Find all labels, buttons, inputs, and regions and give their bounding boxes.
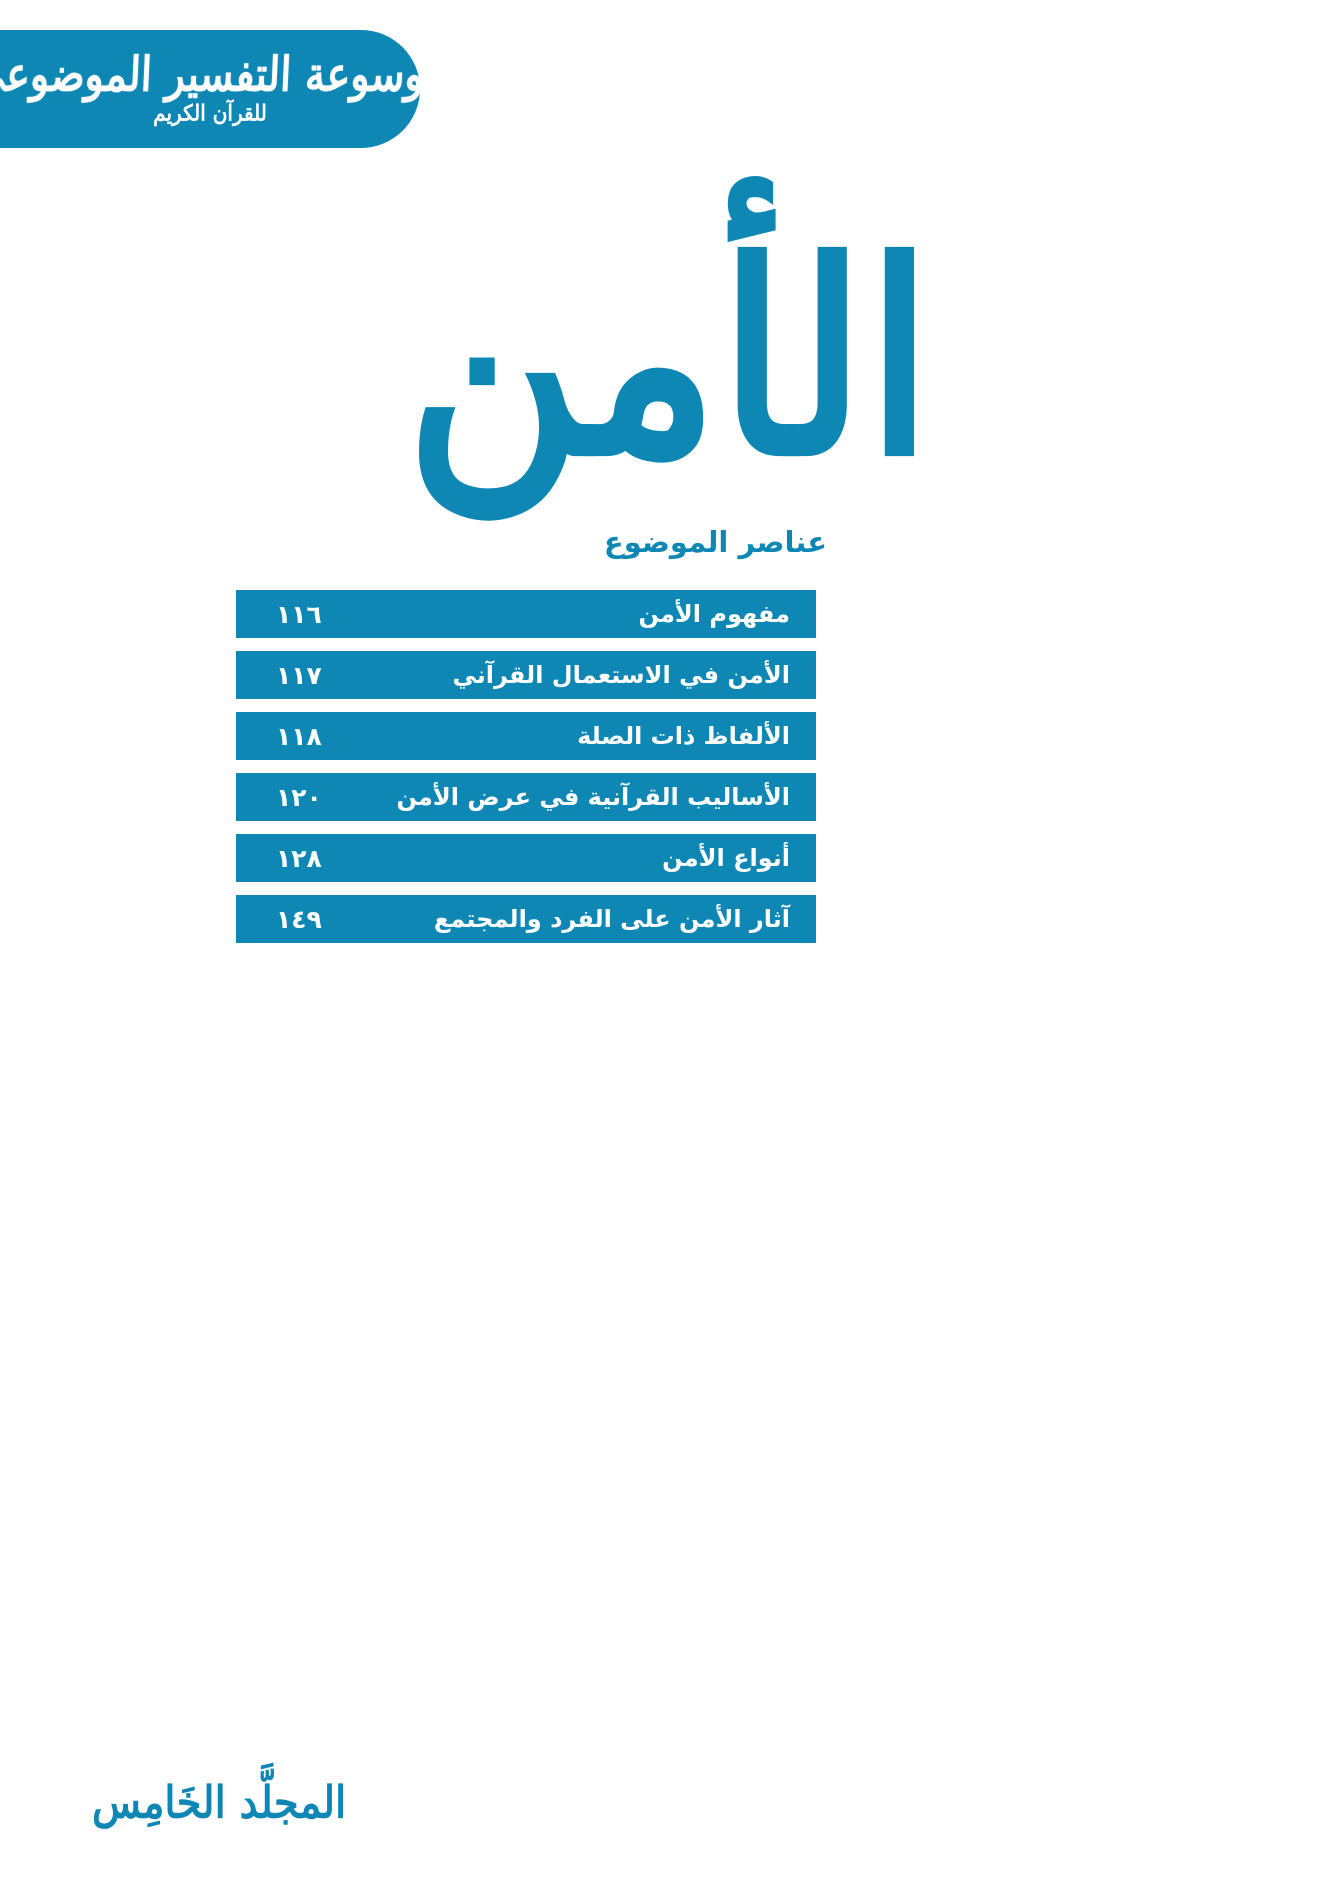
toc-entry-label: الألفاظ ذات الصلة	[577, 722, 790, 750]
toc-entry-page-number: ١٢٨	[276, 844, 322, 873]
table-row[interactable]: آثار الأمن على الفرد والمجتمع١٤٩	[236, 895, 816, 943]
topic-elements-table: مفهوم الأمن١١٦الأمن في الاستعمال القرآني…	[236, 590, 816, 943]
toc-entry-page-number: ١٤٩	[276, 905, 322, 934]
logo-main-title: موسوعة التفسير الموضوعي	[0, 51, 420, 98]
encyclopedia-logo-plaque: موسوعة التفسير الموضوعي للقرآن الكريم	[0, 30, 420, 148]
toc-entry-label: مفهوم الأمن	[638, 600, 790, 628]
page-title: الأمن	[406, 228, 933, 493]
table-row[interactable]: الألفاظ ذات الصلة١١٨	[236, 712, 816, 760]
toc-entry-label: آثار الأمن على الفرد والمجتمع	[434, 905, 790, 933]
topic-title-block: الأمن	[0, 225, 1339, 495]
section-heading-text: عناصر الموضوع	[604, 525, 827, 559]
toc-entry-page-number: ١١٦	[276, 600, 322, 629]
toc-entry-page-number: ١١٧	[276, 661, 322, 690]
volume-label: المجلَّد الخَامِس	[92, 1777, 346, 1829]
toc-entry-label: أنواع الأمن	[662, 844, 790, 872]
toc-entry-page-number: ١١٨	[276, 722, 322, 751]
toc-entry-label: الأمن في الاستعمال القرآني	[452, 661, 790, 689]
logo-subtitle: للقرآن الكريم	[153, 102, 267, 124]
table-row[interactable]: الأمن في الاستعمال القرآني١١٧	[236, 651, 816, 699]
section-heading: عناصر الموضوع	[0, 525, 1339, 559]
table-row[interactable]: الأساليب القرآنية في عرض الأمن١٢٠	[236, 773, 816, 821]
table-row[interactable]: أنواع الأمن١٢٨	[236, 834, 816, 882]
table-row[interactable]: مفهوم الأمن١١٦	[236, 590, 816, 638]
toc-entry-label: الأساليب القرآنية في عرض الأمن	[396, 783, 790, 811]
toc-entry-page-number: ١٢٠	[276, 783, 322, 812]
